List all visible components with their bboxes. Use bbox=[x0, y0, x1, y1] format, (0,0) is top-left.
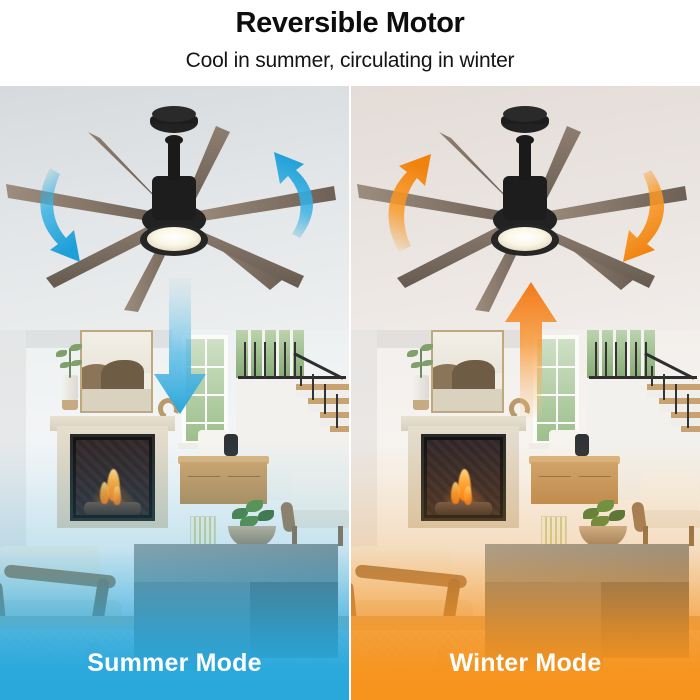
winter-mode-label: Winter Mode bbox=[351, 649, 700, 678]
airflow-arrow-down bbox=[150, 278, 210, 418]
vase bbox=[62, 375, 78, 402]
panel-winter-mode: Winter Mode bbox=[351, 86, 700, 700]
vase-base bbox=[413, 400, 429, 410]
panel-divider bbox=[349, 86, 351, 700]
coffee-table-side bbox=[601, 582, 689, 658]
coffee-table-side bbox=[250, 582, 338, 658]
comparison-panels: Summer Mode bbox=[0, 86, 700, 700]
product-feature-image: Reversible Motor Cool in summer, circula… bbox=[0, 0, 700, 700]
fireplace-firebox bbox=[421, 434, 506, 521]
page-subtitle: Cool in summer, circulating in winter bbox=[0, 38, 700, 71]
decor-candle bbox=[541, 516, 567, 546]
decor-candle bbox=[190, 516, 216, 546]
bench-pillow-accent bbox=[224, 434, 238, 456]
vase bbox=[413, 375, 429, 402]
fireplace-firebox bbox=[70, 434, 155, 521]
header: Reversible Motor Cool in summer, circula… bbox=[0, 0, 700, 86]
page-title: Reversible Motor bbox=[0, 0, 700, 38]
airflow-arrow-up bbox=[501, 278, 561, 418]
bench-pillow-accent bbox=[575, 434, 589, 456]
armchair-right bbox=[633, 472, 700, 546]
armchair-right bbox=[282, 472, 349, 546]
vase-base bbox=[62, 400, 78, 410]
panel-summer-mode: Summer Mode bbox=[0, 86, 349, 700]
summer-mode-label: Summer Mode bbox=[0, 649, 349, 678]
